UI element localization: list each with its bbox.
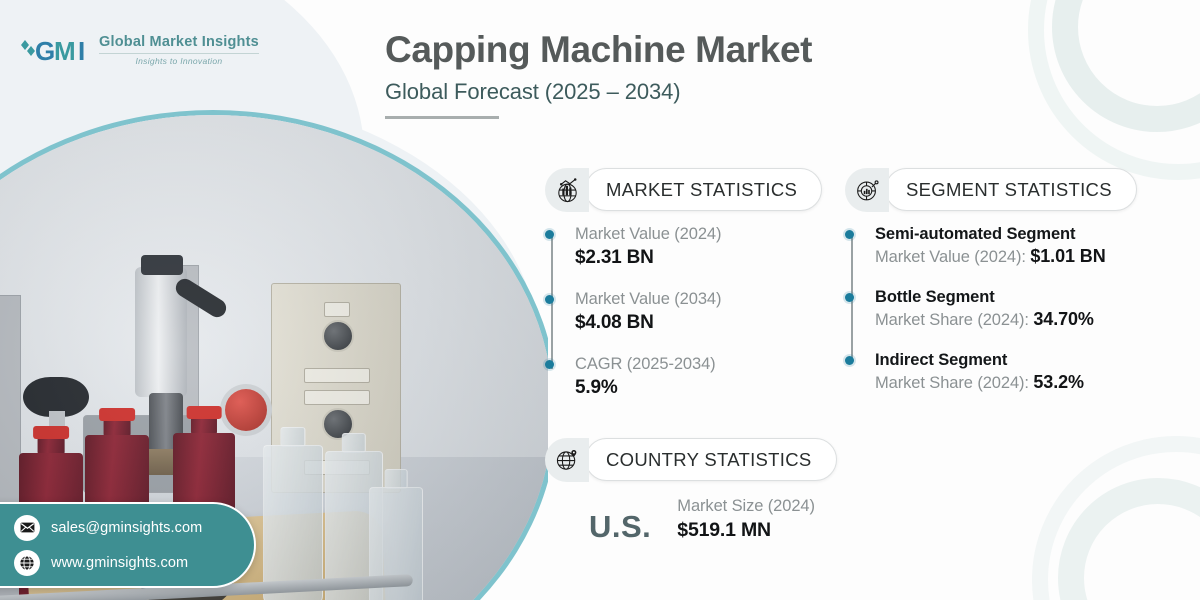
market-statistics-header: MARKET STATISTICS <box>545 168 822 211</box>
contact-website-text: www.gminsights.com <box>51 555 188 571</box>
gmi-logo-mark-icon: G M I <box>18 33 90 67</box>
decorative-ring-top-right-outer <box>1028 0 1200 180</box>
brand-tagline: Insights to Innovation <box>99 57 259 66</box>
segment-stat-metric: Market Value (2024): <box>875 248 1026 266</box>
globe-chart-icon <box>545 168 589 212</box>
country-statistics-header: COUNTRY STATISTICS <box>545 438 837 481</box>
bullet-dot <box>845 293 854 302</box>
pie-chart-target-icon <box>845 168 889 212</box>
brand-logo[interactable]: G M I Global Market Insights Insights to… <box>18 33 259 67</box>
segment-statistics-heading: SEGMENT STATISTICS <box>885 168 1137 211</box>
globe-icon <box>14 550 40 576</box>
segment-stat-line: Market Share (2024): 34.70% <box>875 309 1137 330</box>
market-stat-value: 5.9% <box>575 377 822 399</box>
segment-stat-value: 53.2% <box>1033 372 1084 392</box>
market-stat-label: Market Value (2034) <box>575 290 822 309</box>
page-subtitle: Global Forecast (2025 – 2034) <box>385 79 945 105</box>
contact-email-text: sales@gminsights.com <box>51 520 202 536</box>
segment-statistics-list: Semi-automated Segment Market Value (202… <box>845 225 1137 393</box>
segment-stat-metric: Market Share (2024): <box>875 374 1029 392</box>
bullet-dot <box>845 230 854 239</box>
envelope-icon <box>14 515 40 541</box>
country-metric-block: Market Size (2024) $519.1 MN <box>677 497 815 542</box>
brand-divider <box>99 53 259 54</box>
segment-stat-item: Indirect Segment Market Share (2024): 53… <box>875 351 1137 393</box>
title-block: Capping Machine Market Global Forecast (… <box>385 30 945 119</box>
decorative-ring-bottom-right-outer <box>1032 436 1200 600</box>
market-stat-label: Market Value (2024) <box>575 225 822 244</box>
bullet-dot <box>545 295 554 304</box>
infographic-canvas: sales@gminsights.com www.gminsights.com <box>0 0 1200 600</box>
market-statistics-list: Market Value (2024) $2.31 BN Market Valu… <box>545 225 822 399</box>
segment-stat-line: Market Share (2024): 53.2% <box>875 372 1137 393</box>
segment-stat-line: Market Value (2024): $1.01 BN <box>875 246 1137 267</box>
decorative-ring-bottom-right <box>1058 478 1200 600</box>
contact-website-row[interactable]: www.gminsights.com <box>14 550 254 576</box>
country-metric-value: $519.1 MN <box>677 519 815 542</box>
brand-logo-text: Global Market Insights Insights to Innov… <box>99 35 259 66</box>
segment-stat-value: $1.01 BN <box>1030 246 1105 266</box>
bullet-dot <box>845 356 854 365</box>
decorative-ring-top-right <box>1052 0 1200 132</box>
contact-email-row[interactable]: sales@gminsights.com <box>14 515 254 541</box>
market-stat-value: $4.08 BN <box>575 312 822 334</box>
svg-text:M: M <box>54 36 75 66</box>
country-statistics-heading: COUNTRY STATISTICS <box>585 438 837 481</box>
segment-stat-item: Semi-automated Segment Market Value (202… <box>875 225 1137 267</box>
segment-stat-title: Bottle Segment <box>875 288 1137 307</box>
market-stat-item: Market Value (2034) $4.08 BN <box>575 290 822 334</box>
bullet-dot <box>545 230 554 239</box>
segment-stat-value: 34.70% <box>1033 309 1093 329</box>
market-statistics-heading: MARKET STATISTICS <box>585 168 822 211</box>
segment-stat-item: Bottle Segment Market Share (2024): 34.7… <box>875 288 1137 330</box>
globe-pin-icon <box>545 438 589 482</box>
market-stat-item: CAGR (2025-2034) 5.9% <box>575 355 822 399</box>
page-title: Capping Machine Market <box>385 30 945 70</box>
contact-pill: sales@gminsights.com www.gminsights.com <box>0 502 256 588</box>
brand-name: Global Market Insights <box>99 35 259 50</box>
country-statistics-body: U.S. Market Size (2024) $519.1 MN <box>545 497 837 542</box>
segment-stat-title: Indirect Segment <box>875 351 1137 370</box>
segment-stat-title: Semi-automated Segment <box>875 225 1137 244</box>
market-statistics-panel: MARKET STATISTICS Market Value (2024) $2… <box>545 168 822 399</box>
country-metric-label: Market Size (2024) <box>677 497 815 516</box>
country-name: U.S. <box>589 511 651 542</box>
svg-text:I: I <box>78 36 84 66</box>
bullet-dot <box>545 360 554 369</box>
country-statistics-panel: COUNTRY STATISTICS U.S. Market Size (202… <box>545 438 837 542</box>
title-underline <box>385 116 499 119</box>
market-stat-item: Market Value (2024) $2.31 BN <box>575 225 822 269</box>
svg-text:G: G <box>35 36 54 66</box>
market-stat-value: $2.31 BN <box>575 247 822 269</box>
market-stat-label: CAGR (2025-2034) <box>575 355 822 374</box>
segment-statistics-header: SEGMENT STATISTICS <box>845 168 1137 211</box>
segment-stat-metric: Market Share (2024): <box>875 311 1029 329</box>
segment-statistics-panel: SEGMENT STATISTICS Semi-automated Segmen… <box>845 168 1137 393</box>
